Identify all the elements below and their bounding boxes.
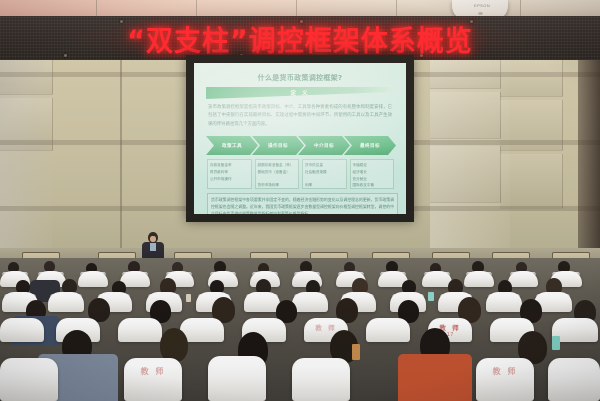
slide-paragraph: 货币政策调控框架是指货币政策目标、中介、工具等各种要素构成的有机整体和制度安排，… (208, 104, 392, 129)
table-cell: 货币供应量社会融资规模 利率 (302, 159, 347, 189)
speaker-face (150, 236, 156, 242)
chevron-final-target: 最终目标 (344, 136, 396, 155)
table-cell: 币值稳定经济增长充分就业国际收支平衡 (350, 159, 395, 189)
slide-section-label: 定 义 (206, 87, 394, 99)
table-cell: 超额存款准备金（率）基础货币（准备金） 货币市场利率 (255, 159, 300, 189)
audience-area: 教 师 17 教 师 教 师 教 师 (0, 258, 600, 401)
ceiling-red-reflection (0, 0, 600, 16)
led-banner-text: “双支柱”调控框架体系概览 (0, 16, 600, 60)
wall-dark-right-edge (578, 60, 600, 260)
projector-brand-label: EPSON (474, 3, 490, 8)
speaker-shirt (150, 243, 156, 251)
projection-screen: 什么是货币政策调控框架? 定 义 货币政策调控框架是指货币政策目标、中介、工具等… (194, 63, 406, 214)
slide-chevron-flow: 政策工具 操作目标 中介目标 最终目标 (206, 136, 396, 155)
wall-column-seam (120, 60, 122, 260)
conference-hall-photo: EPSON “双支柱”调控框架体系概览 什么是货币政策调控框架? 定 义 货币 (0, 0, 600, 401)
led-banner-board: “双支柱”调控框架体系概览 (0, 16, 600, 60)
projection-screen-frame: 什么是货币政策调控框架? 定 义 货币政策调控框架是指货币政策目标、中介、工具等… (186, 55, 414, 222)
chevron-intermediate-target: 中介目标 (298, 136, 350, 155)
slide-table: 存款准备金率再贷款利率公开市场操作 其他 超额存款准备金（率）基础货币（准备金）… (207, 159, 394, 189)
slide-title: 什么是货币政策调控框架? (194, 73, 406, 83)
projector-lens (478, 12, 483, 15)
chevron-operating-target: 操作目标 (252, 136, 304, 155)
slide-note-box: 货币政策调控框架中各项要素并非固定不变的，随着经济金融形势的变化以及调控理念的更… (207, 193, 398, 214)
table-cell: 存款准备金率再贷款利率公开市场操作 其他 (207, 159, 252, 189)
chevron-policy-tools: 政策工具 (206, 136, 258, 155)
